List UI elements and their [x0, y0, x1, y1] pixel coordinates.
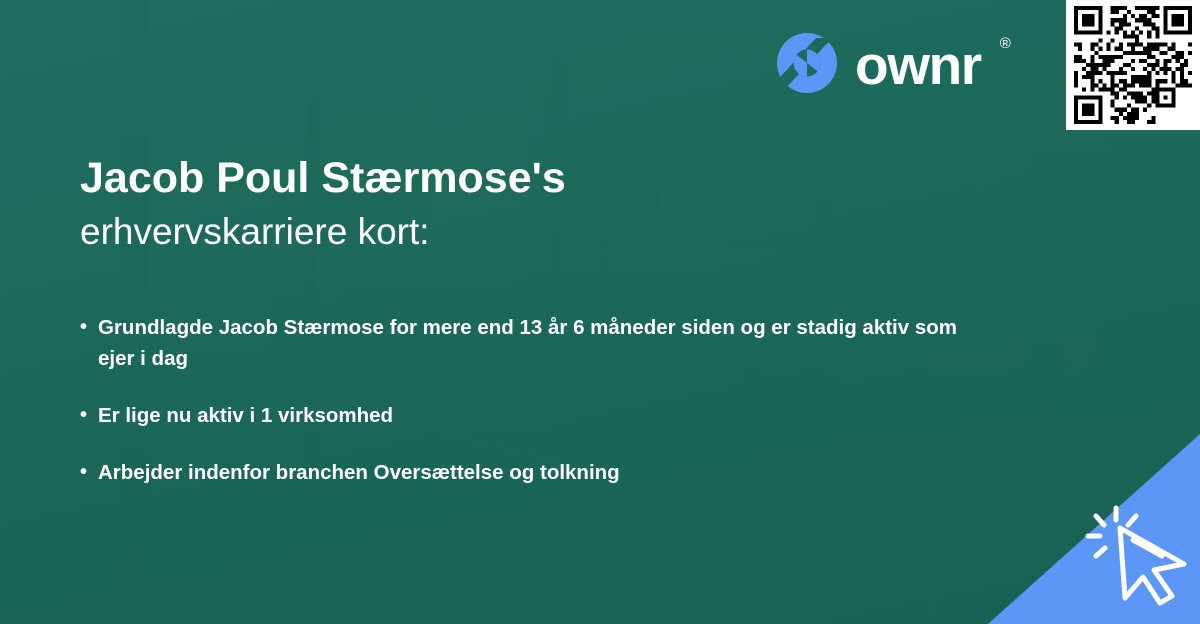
- bullet-icon: •: [80, 457, 98, 487]
- list-item: • Er lige nu aktiv i 1 virksomhed: [80, 400, 970, 431]
- qr-code[interactable]: [1066, 0, 1200, 130]
- trademark-symbol: ®: [1000, 35, 1011, 52]
- title-line-name: Jacob Poul Stærmose's: [80, 152, 840, 204]
- list-item: • Arbejder indenfor branchen Oversættels…: [80, 457, 970, 488]
- list-item: • Grundlagde Jacob Stærmose for mere end…: [80, 312, 970, 374]
- facts-list: • Grundlagde Jacob Stærmose for mere end…: [80, 312, 970, 489]
- bullet-icon: •: [80, 312, 98, 342]
- ownr-business-card: ownr ® Jacob Poul Stærmose's erhvervskar…: [0, 0, 1200, 624]
- brand-wordmark: ownr: [855, 38, 981, 93]
- ownr-circle-logo-icon: [776, 32, 838, 94]
- qr-code-canvas: [1074, 6, 1192, 124]
- fact-text: Grundlagde Jacob Stærmose for mere end 1…: [98, 312, 970, 374]
- fact-text: Arbejder indenfor branchen Oversættelse …: [98, 457, 970, 488]
- ownr-logo[interactable]: ownr ®: [776, 30, 1009, 96]
- fact-text: Er lige nu aktiv i 1 virksomhed: [98, 400, 970, 431]
- page-title: Jacob Poul Stærmose's erhvervskarriere k…: [80, 152, 840, 256]
- title-line-subtitle: erhvervskarriere kort:: [80, 208, 840, 255]
- cursor-arrow: [1120, 528, 1184, 603]
- click-cursor-icon: [1080, 498, 1192, 606]
- bullet-icon: •: [80, 400, 98, 430]
